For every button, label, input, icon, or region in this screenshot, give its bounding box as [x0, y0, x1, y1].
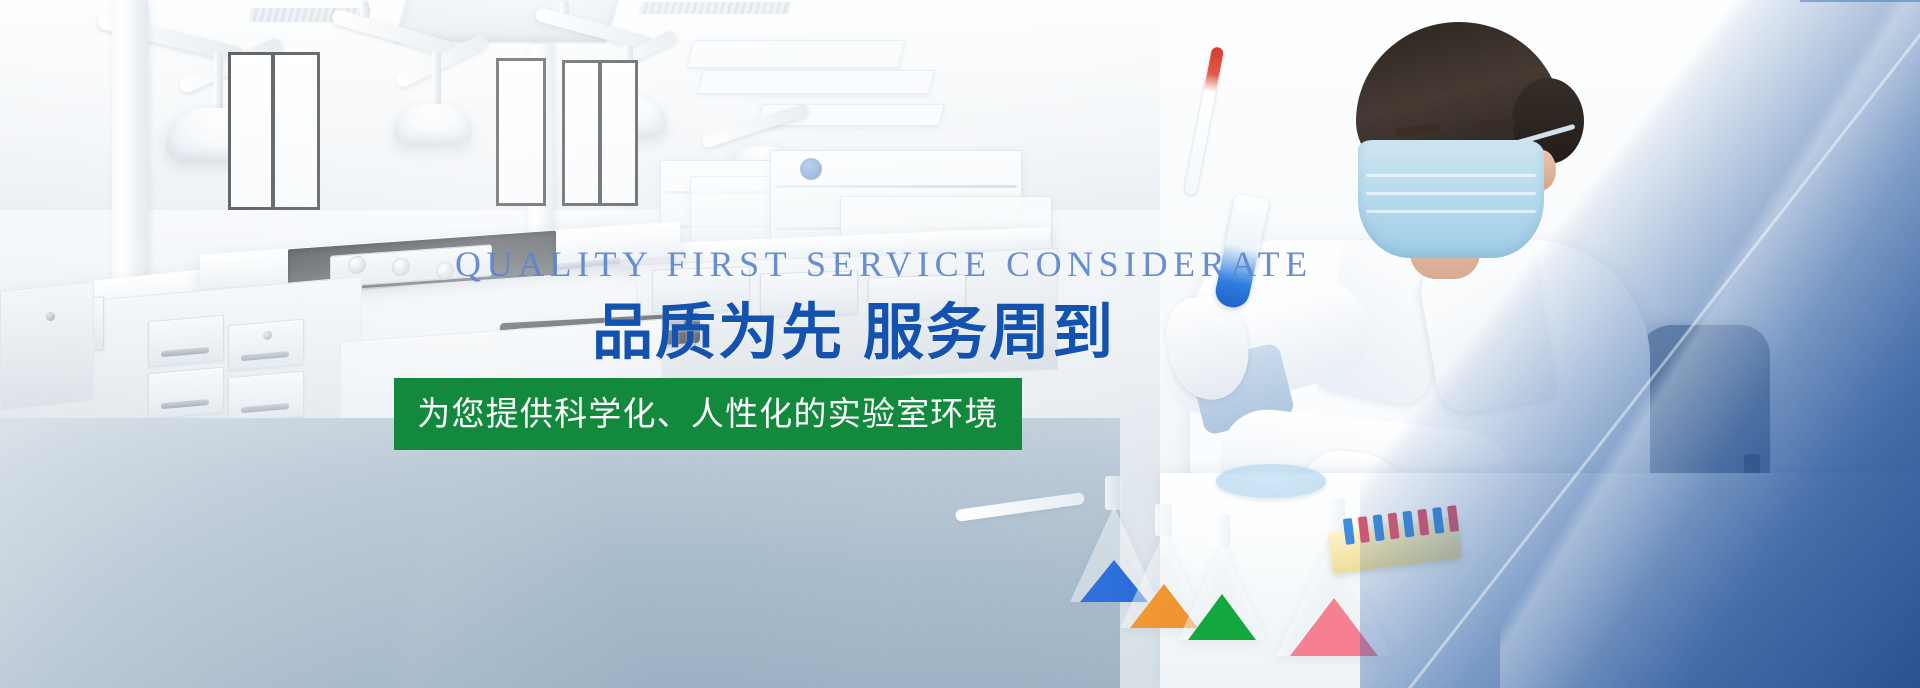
banner-subtitle-bar: 为您提供科学化、人性化的实验室环境: [394, 378, 1022, 450]
banner-copy: QUALITY FIRST SERVICE CONSIDERATE 品质为先 服…: [0, 0, 1920, 688]
banner-subtitle-text: 为您提供科学化、人性化的实验室环境: [417, 394, 998, 434]
banner-eyebrow-text: QUALITY FIRST SERVICE CONSIDERATE: [455, 244, 1313, 284]
banner-headline: 品质为先 服务周到: [592, 296, 1115, 368]
hero-banner: QUALITY FIRST SERVICE CONSIDERATE 品质为先 服…: [0, 0, 1920, 688]
